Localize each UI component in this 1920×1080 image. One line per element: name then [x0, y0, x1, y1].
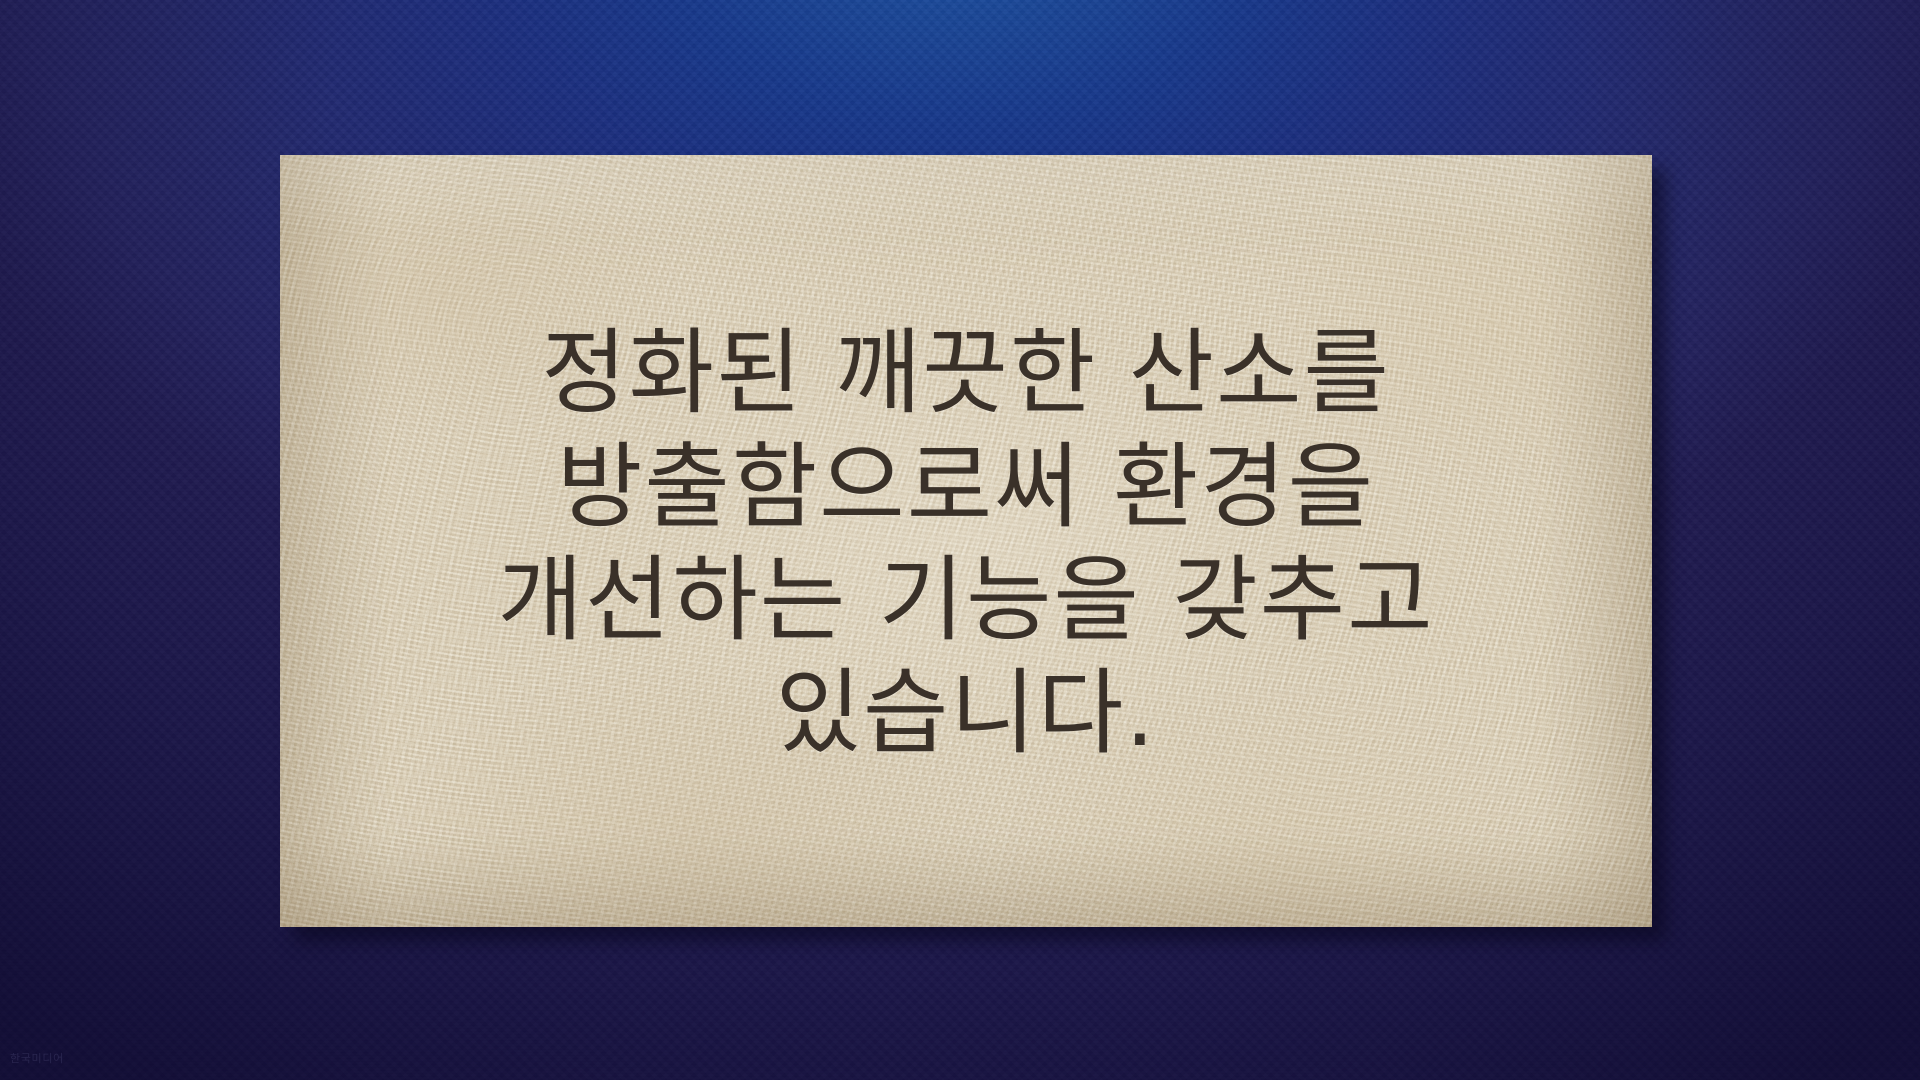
- watermark-label: 한국미디어: [10, 1050, 64, 1066]
- paper-card: 정화된 깨끗한 산소를 방출함으로써 환경을 개선하는 기능을 갖추고 있습니다…: [280, 155, 1652, 927]
- caption-text-block: 정화된 깨끗한 산소를 방출함으로써 환경을 개선하는 기능을 갖추고 있습니다…: [280, 155, 1652, 927]
- caption-line-1: 정화된 깨끗한 산소를: [541, 317, 1391, 430]
- caption-line-4: 있습니다.: [775, 657, 1156, 770]
- slide-canvas: 정화된 깨끗한 산소를 방출함으로써 환경을 개선하는 기능을 갖추고 있습니다…: [0, 0, 1920, 1080]
- caption-line-3: 개선하는 기능을 갖추고: [497, 544, 1434, 657]
- caption-line-2: 방출함으로써 환경을: [557, 431, 1375, 544]
